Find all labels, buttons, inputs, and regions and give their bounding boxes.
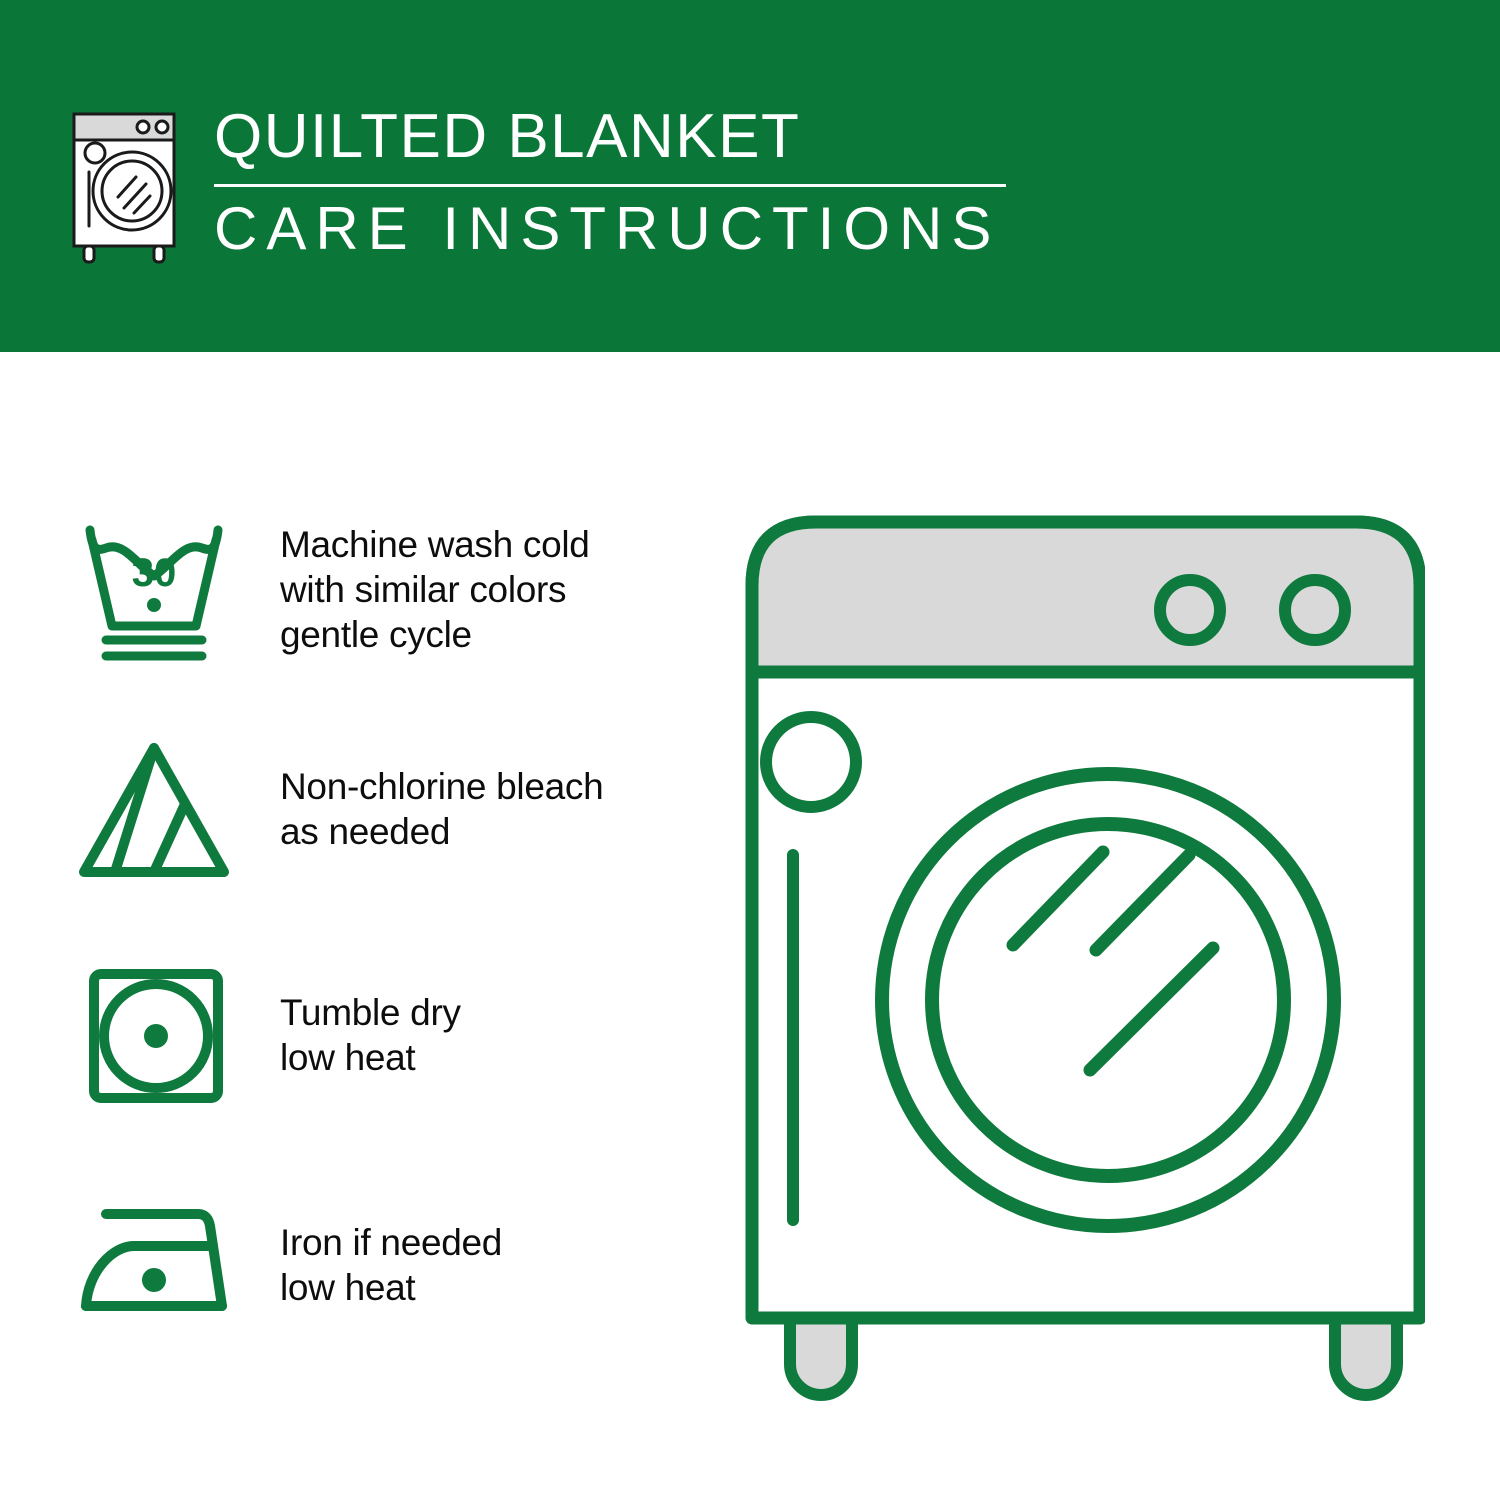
header-banner: QUILTED BLANKET CARE INSTRUCTIONS: [0, 0, 1500, 352]
care-item-tumble-dry: Tumble dry low heat: [72, 960, 712, 1110]
washer-door-inner: [932, 824, 1284, 1176]
care-item-wash: 30 Machine wash cold with similar colors…: [72, 514, 712, 664]
header-title-group: QUILTED BLANKET CARE INSTRUCTIONS: [214, 96, 1006, 265]
page-title: QUILTED BLANKET: [214, 100, 1006, 174]
tumble-dry-low-icon: [72, 960, 242, 1110]
care-item-label: Tumble dry low heat: [280, 990, 461, 1080]
front-load-washing-machine-illustration: [745, 500, 1425, 1410]
care-item-label: Machine wash cold with similar colors ge…: [280, 522, 590, 657]
washing-machine-icon: [62, 96, 192, 268]
wash-temperature-value: 30: [132, 551, 177, 595]
wash-tub-30-gentle-icon: 30: [72, 514, 242, 664]
title-divider: [214, 184, 1006, 187]
non-chlorine-bleach-triangle-icon: [72, 734, 242, 884]
iron-low-heat-icon: [72, 1190, 242, 1340]
washer-indicator-circle: [766, 717, 856, 807]
care-item-iron: Iron if needed low heat: [72, 1190, 712, 1340]
page-subtitle: CARE INSTRUCTIONS: [214, 193, 1006, 265]
care-item-label: Iron if needed low heat: [280, 1220, 502, 1310]
care-item-label: Non-chlorine bleach as needed: [280, 764, 603, 854]
care-item-bleach: Non-chlorine bleach as needed: [72, 734, 712, 884]
care-instruction-list: 30 Machine wash cold with similar colors…: [0, 352, 740, 1500]
header-content: QUILTED BLANKET CARE INSTRUCTIONS: [62, 96, 1006, 268]
